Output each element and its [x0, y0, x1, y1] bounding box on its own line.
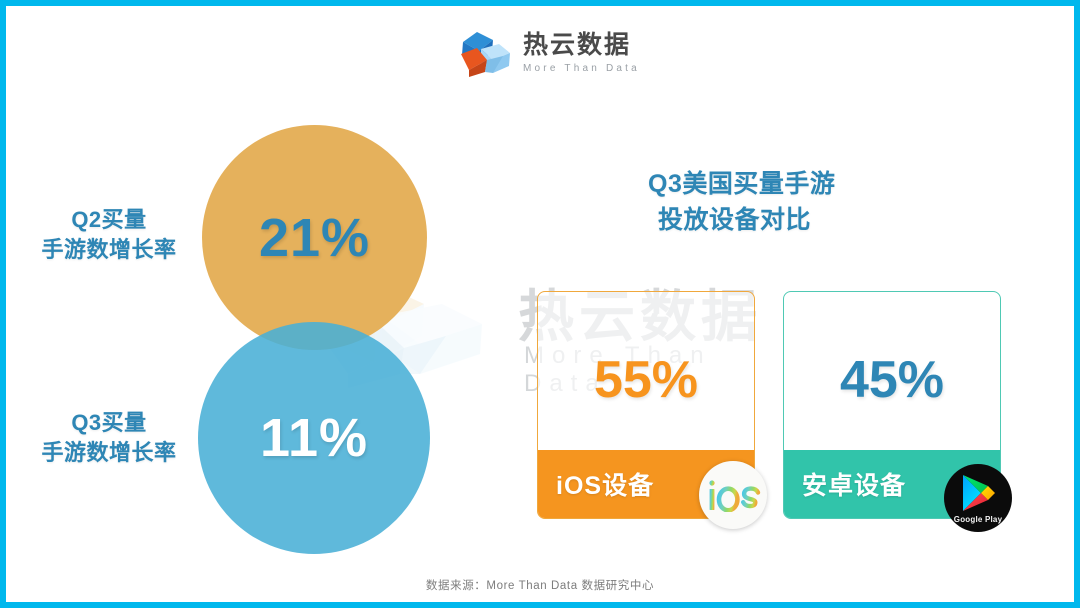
section-title-line1: Q3美国买量手游: [648, 170, 835, 198]
section-title: Q3美国买量手游 投放设备对比: [648, 166, 978, 239]
venn-label-q3-line1: Q3买量: [16, 408, 202, 438]
frame-border-left: [0, 0, 6, 608]
venn-label-q2-line1: Q2买量: [16, 205, 202, 235]
frame-border-bottom: [0, 602, 1080, 608]
brand-tagline-en: More Than Data: [523, 63, 640, 74]
venn-label-q2: Q2买量 手游数增长率: [16, 205, 202, 264]
venn-label-q2-line2: 手游数增长率: [16, 235, 202, 265]
brand-logo-text: 热云数据 More Than Data: [523, 32, 640, 73]
brand-name-cn: 热云数据: [523, 32, 640, 58]
frame-border-top: [0, 0, 1080, 6]
device-card-ios-label: iOS设备: [538, 466, 654, 502]
device-card-android-label: 安卓设备: [784, 466, 906, 502]
venn-label-q3: Q3买量 手游数增长率: [16, 408, 202, 467]
google-play-icon: [958, 472, 998, 514]
frame-border-right: [1074, 0, 1080, 608]
ios-badge: [699, 461, 767, 529]
infographic-slide: 热云数据 More Than Data 热云数据 More Than Data …: [0, 0, 1080, 608]
venn-label-q3-line2: 手游数增长率: [16, 438, 202, 468]
venn-value-q2: 21%: [259, 207, 370, 269]
source-note: 数据来源：More Than Data 数据研究中心: [0, 577, 1080, 593]
reyun-cube-logo-icon: [455, 28, 513, 78]
venn-circle-q2: 21%: [202, 125, 427, 350]
google-play-caption: Google Play: [954, 515, 1002, 524]
device-card-android-percent: 45%: [784, 350, 1000, 410]
brand-logo: 热云数据 More Than Data: [455, 28, 640, 78]
device-card-ios-percent: 55%: [538, 350, 754, 410]
venn-value-q3: 11%: [260, 407, 368, 469]
ios-logo-icon: [705, 478, 761, 512]
venn-circle-q3: 11%: [198, 322, 430, 554]
section-title-line2: 投放设备对比: [648, 202, 978, 238]
google-play-badge: Google Play: [944, 464, 1012, 532]
